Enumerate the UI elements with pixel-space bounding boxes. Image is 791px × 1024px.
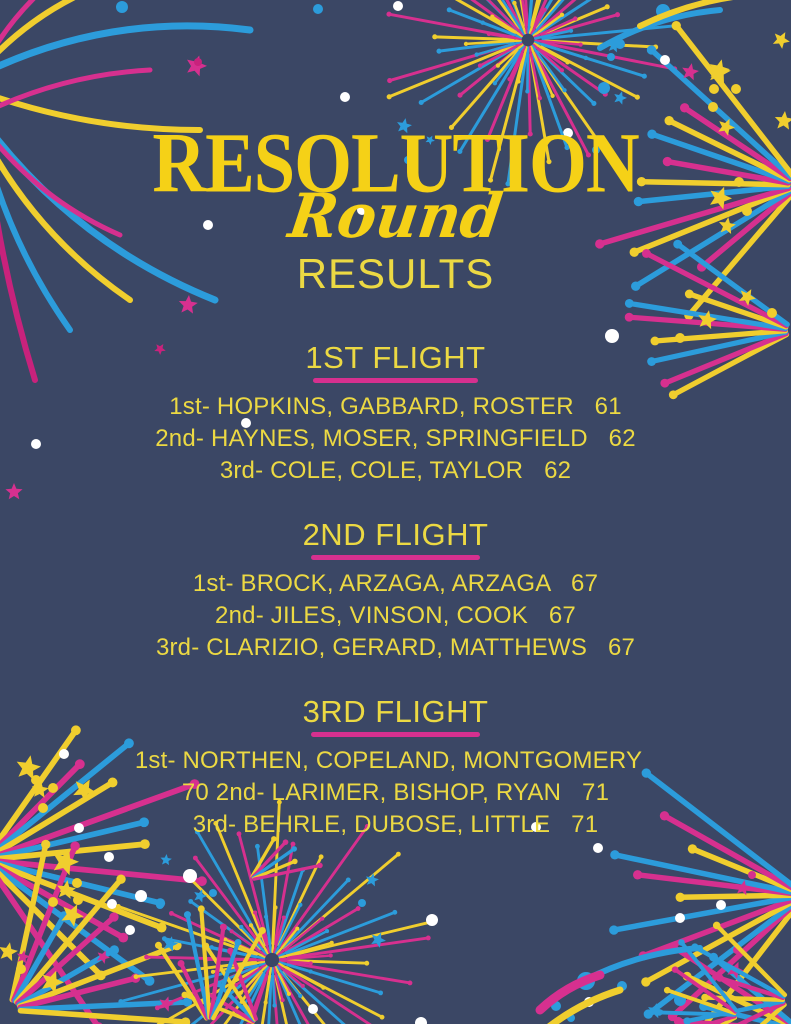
flight-section-1: 1ST FLIGHT 1st- HOPKINS, GABBARD, ROSTER… (0, 340, 791, 487)
title-subtitle: RESULTS (0, 253, 791, 295)
result-row: 2nd- JILES, VINSON, COOK 67 (0, 600, 791, 632)
flight-heading-label: 1ST FLIGHT (305, 340, 485, 375)
result-row: 3rd- COLE, COLE, TAYLOR 62 (0, 455, 791, 487)
result-place: 1st- (169, 393, 210, 420)
flight-heading-label: 2ND FLIGHT (303, 517, 489, 552)
title-script: Round (0, 186, 791, 247)
result-players: COLE, COLE, TAYLOR (270, 457, 523, 484)
result-place: 3rd- (156, 634, 199, 661)
result-players: HOPKINS, GABBARD, ROSTER (217, 393, 574, 420)
flight-heading-underline (311, 732, 481, 737)
result-place: 1st- (193, 570, 234, 597)
flight-heading-underline (313, 378, 477, 383)
flight-section-3: 3RD FLIGHT 1st- NORTHEN, COPELAND, MONTG… (0, 694, 791, 841)
section-spacer (0, 487, 791, 517)
result-row: 3rd- CLARIZIO, GERARD, MATTHEWS 67 (0, 632, 791, 664)
flight-heading-3: 3RD FLIGHT (303, 694, 489, 737)
result-place: 3rd- (193, 811, 236, 838)
result-players: HAYNES, MOSER, SPRINGFIELD (211, 425, 588, 452)
poster-canvas: RESOLUTION Round RESULTS 1ST FLIGHT 1st-… (0, 0, 791, 1024)
flight-section-2: 2ND FLIGHT 1st- BROCK, ARZAGA, ARZAGA 67… (0, 517, 791, 664)
result-place: 1st- (135, 747, 176, 774)
result-score (642, 747, 656, 774)
result-place: 2nd- (215, 602, 264, 629)
result-place: 70 2nd- (182, 779, 265, 806)
poster-title-block: RESOLUTION Round RESULTS (0, 122, 791, 295)
result-players: LARIMER, BISHOP, RYAN (272, 779, 562, 806)
result-score: 67 (535, 602, 576, 629)
results-list: 1ST FLIGHT 1st- HOPKINS, GABBARD, ROSTER… (0, 340, 791, 841)
result-row: 70 2nd- LARIMER, BISHOP, RYAN 71 (0, 777, 791, 809)
result-score: 71 (568, 779, 609, 806)
result-score: 67 (594, 634, 635, 661)
result-players: JILES, VINSON, COOK (271, 602, 528, 629)
result-row: 1st- BROCK, ARZAGA, ARZAGA 67 (0, 568, 791, 600)
result-players: BROCK, ARZAGA, ARZAGA (241, 570, 551, 597)
result-row: 3rd- BEHRLE, DUBOSE, LITTLE 71 (0, 809, 791, 841)
result-score: 62 (595, 425, 636, 452)
flight-heading-2: 2ND FLIGHT (303, 517, 489, 560)
result-players: CLARIZIO, GERARD, MATTHEWS (206, 634, 587, 661)
result-score: 71 (557, 811, 598, 838)
result-row: 2nd- HAYNES, MOSER, SPRINGFIELD 62 (0, 423, 791, 455)
flight-heading-1: 1ST FLIGHT (305, 340, 485, 383)
result-score: 61 (581, 393, 622, 420)
section-spacer (0, 664, 791, 694)
result-place: 3rd- (220, 457, 263, 484)
result-row: 1st- HOPKINS, GABBARD, ROSTER 61 (0, 391, 791, 423)
result-players: BEHRLE, DUBOSE, LITTLE (243, 811, 550, 838)
flight-heading-underline (311, 555, 481, 560)
result-score: 62 (530, 457, 571, 484)
result-score: 67 (557, 570, 598, 597)
result-row: 1st- NORTHEN, COPELAND, MONTGOMERY (0, 745, 791, 777)
result-place: 2nd- (155, 425, 204, 452)
flight-heading-label: 3RD FLIGHT (303, 694, 489, 729)
result-players: NORTHEN, COPELAND, MONTGOMERY (183, 747, 643, 774)
